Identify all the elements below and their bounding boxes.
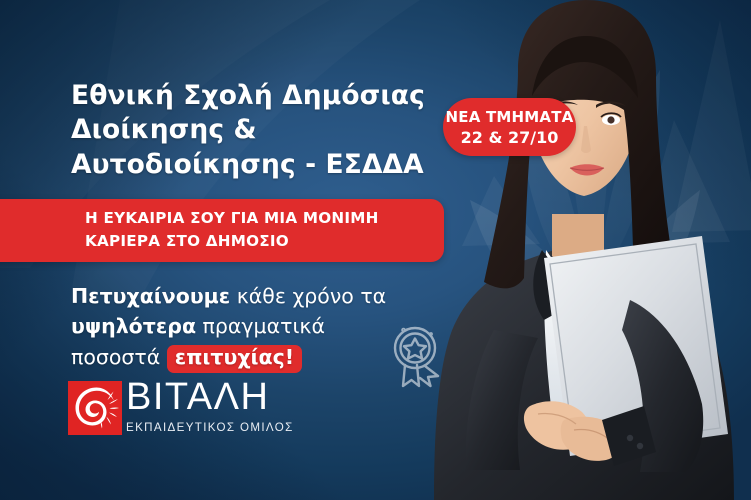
new-classes-badge-label: ΝΕΑ ΤΜΗΜΑΤΑ xyxy=(446,108,574,126)
tagline-highlight: επιτυχίας! xyxy=(167,345,302,373)
new-classes-badge: ΝΕΑ ΤΜΗΜΑΤΑ 22 & 27/10 xyxy=(443,98,576,156)
red-callout-banner: Η ΕΥΚΑΙΡΙΑ ΣΟΥ ΓΙΑ ΜΙΑ ΜΟΝΙΜΗ ΚΑΡΙΕΡΑ ΣΤ… xyxy=(0,199,444,262)
red-callout-line-1: Η ΕΥΚΑΙΡΙΑ ΣΟΥ ΓΙΑ ΜΙΑ ΜΟΝΙΜΗ xyxy=(85,207,379,230)
tagline-rest-1: κάθε χρόνο τα xyxy=(230,284,386,308)
tagline-line-1: Πετυχαίνουμε κάθε χρόνο τα xyxy=(71,281,421,311)
headline-line-2: Διοίκησης & xyxy=(71,113,431,147)
tagline-paragraph: Πετυχαίνουμε κάθε χρόνο τα υψηλότερα πρα… xyxy=(71,281,421,373)
logo-name: ΒΙΤΑΛΗ xyxy=(126,378,294,416)
promotional-banner: Εθνική Σχολή Δημόσιας Διοίκησης & Αυτοδι… xyxy=(0,0,751,500)
tagline-line-3: ποσοστά επιτυχίας! xyxy=(71,342,421,373)
headline-line-3: Αυτοδιοίκησης - ΕΣΔΔΑ xyxy=(71,148,431,182)
logo-text-group: ΒΙΤΑΛΗ ΕΚΠΑΙΔΕΥΤΙΚΟΣ ΟΜΙΛΟΣ xyxy=(126,378,294,434)
vitali-logo: ΒΙΤΑΛΗ ΕΚΠΑΙΔΕΥΤΙΚΟΣ ΟΜΙΛΟΣ xyxy=(68,381,318,443)
new-classes-badge-dates: 22 & 27/10 xyxy=(461,128,559,147)
page-title: Εθνική Σχολή Δημόσιας Διοίκησης & Αυτοδι… xyxy=(71,79,431,182)
photo-businesswoman xyxy=(434,0,751,500)
tagline-rest-3: ποσοστά xyxy=(71,345,167,369)
headline-line-1: Εθνική Σχολή Δημόσιας xyxy=(71,79,431,113)
tagline-bold-2: υψηλότερα xyxy=(71,314,196,338)
spiral-sun-icon xyxy=(68,381,122,435)
red-callout-text: Η ΕΥΚΑΙΡΙΑ ΣΟΥ ΓΙΑ ΜΙΑ ΜΟΝΙΜΗ ΚΑΡΙΕΡΑ ΣΤ… xyxy=(85,207,379,253)
tagline-line-2: υψηλότερα πραγματικά xyxy=(71,311,421,341)
tagline-rest-2: πραγματικά xyxy=(196,314,325,338)
red-callout-line-2: ΚΑΡΙΕΡΑ ΣΤΟ ΔΗΜΟΣΙΟ xyxy=(85,230,379,253)
logo-subtitle: ΕΚΠΑΙΔΕΥΤΙΚΟΣ ΟΜΙΛΟΣ xyxy=(126,421,294,434)
tagline-bold-1: Πετυχαίνουμε xyxy=(71,284,230,308)
